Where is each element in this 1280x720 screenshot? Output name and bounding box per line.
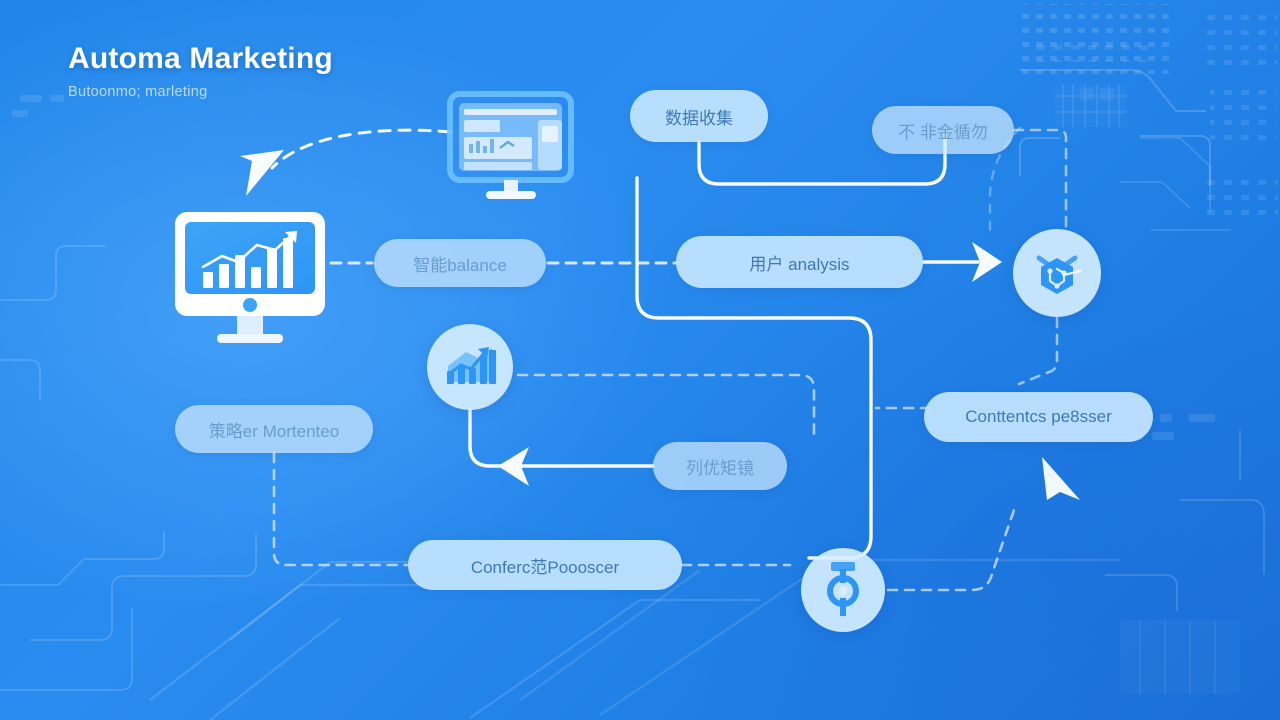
connector-rule-to-growth xyxy=(470,410,653,486)
page-subtitle: Butoonmo; marleting xyxy=(68,84,333,100)
page-title: Automa Marketing xyxy=(68,42,333,76)
node-alert-dispatch[interactable]: 不 非金循勿 xyxy=(872,106,1014,154)
node-rule-engine[interactable]: 列优矩镜 xyxy=(653,442,787,490)
infographic-canvas: Automa Marketing Butoonmo; marleting xyxy=(0,0,1280,720)
connector-analysis-to-ai xyxy=(923,242,1002,282)
dashboard-monitor-icon xyxy=(448,92,573,202)
connector-analysis-rail xyxy=(637,178,871,558)
ai-hexagon-icon xyxy=(1013,229,1101,317)
node-contents-passer[interactable]: Conttentcs pe8sser xyxy=(924,392,1153,442)
connector-alert-to-ai xyxy=(1014,130,1066,228)
node-rule-engine-label: 列优矩镜 xyxy=(686,454,754,479)
target-node-icon xyxy=(801,548,885,632)
node-data-collection-label: 数据收集 xyxy=(665,104,733,129)
growth-chart-icon xyxy=(427,324,513,410)
node-user-analysis-label: 用户 analysis xyxy=(749,250,849,275)
node-smart-balance-label: 智能balance xyxy=(413,251,507,276)
connector-target-to-contents xyxy=(888,457,1080,590)
node-content-proposer-label: Conferc范Poooscer xyxy=(471,553,619,578)
node-data-collection[interactable]: 数据收集 xyxy=(630,90,768,142)
node-contents-passer-label: Conttentcs pe8sser xyxy=(965,407,1111,427)
node-strategy-monitor-label: 策略er Mortenteo xyxy=(209,417,339,442)
node-content-proposer[interactable]: Conferc范Poooscer xyxy=(408,540,682,590)
node-strategy-monitor[interactable]: 策略er Mortenteo xyxy=(175,405,373,453)
analytics-monitor-icon xyxy=(175,212,325,347)
connector-title-to-analytics xyxy=(240,130,450,196)
connector-growth-to-rule xyxy=(518,375,814,441)
node-alert-dispatch-label: 不 非金循勿 xyxy=(898,118,988,143)
node-smart-balance[interactable]: 智能balance xyxy=(374,239,546,287)
node-user-analysis[interactable]: 用户 analysis xyxy=(676,236,923,288)
title-block: Automa Marketing Butoonmo; marleting xyxy=(68,42,333,100)
connector-strategy-to-proposer xyxy=(274,453,408,565)
